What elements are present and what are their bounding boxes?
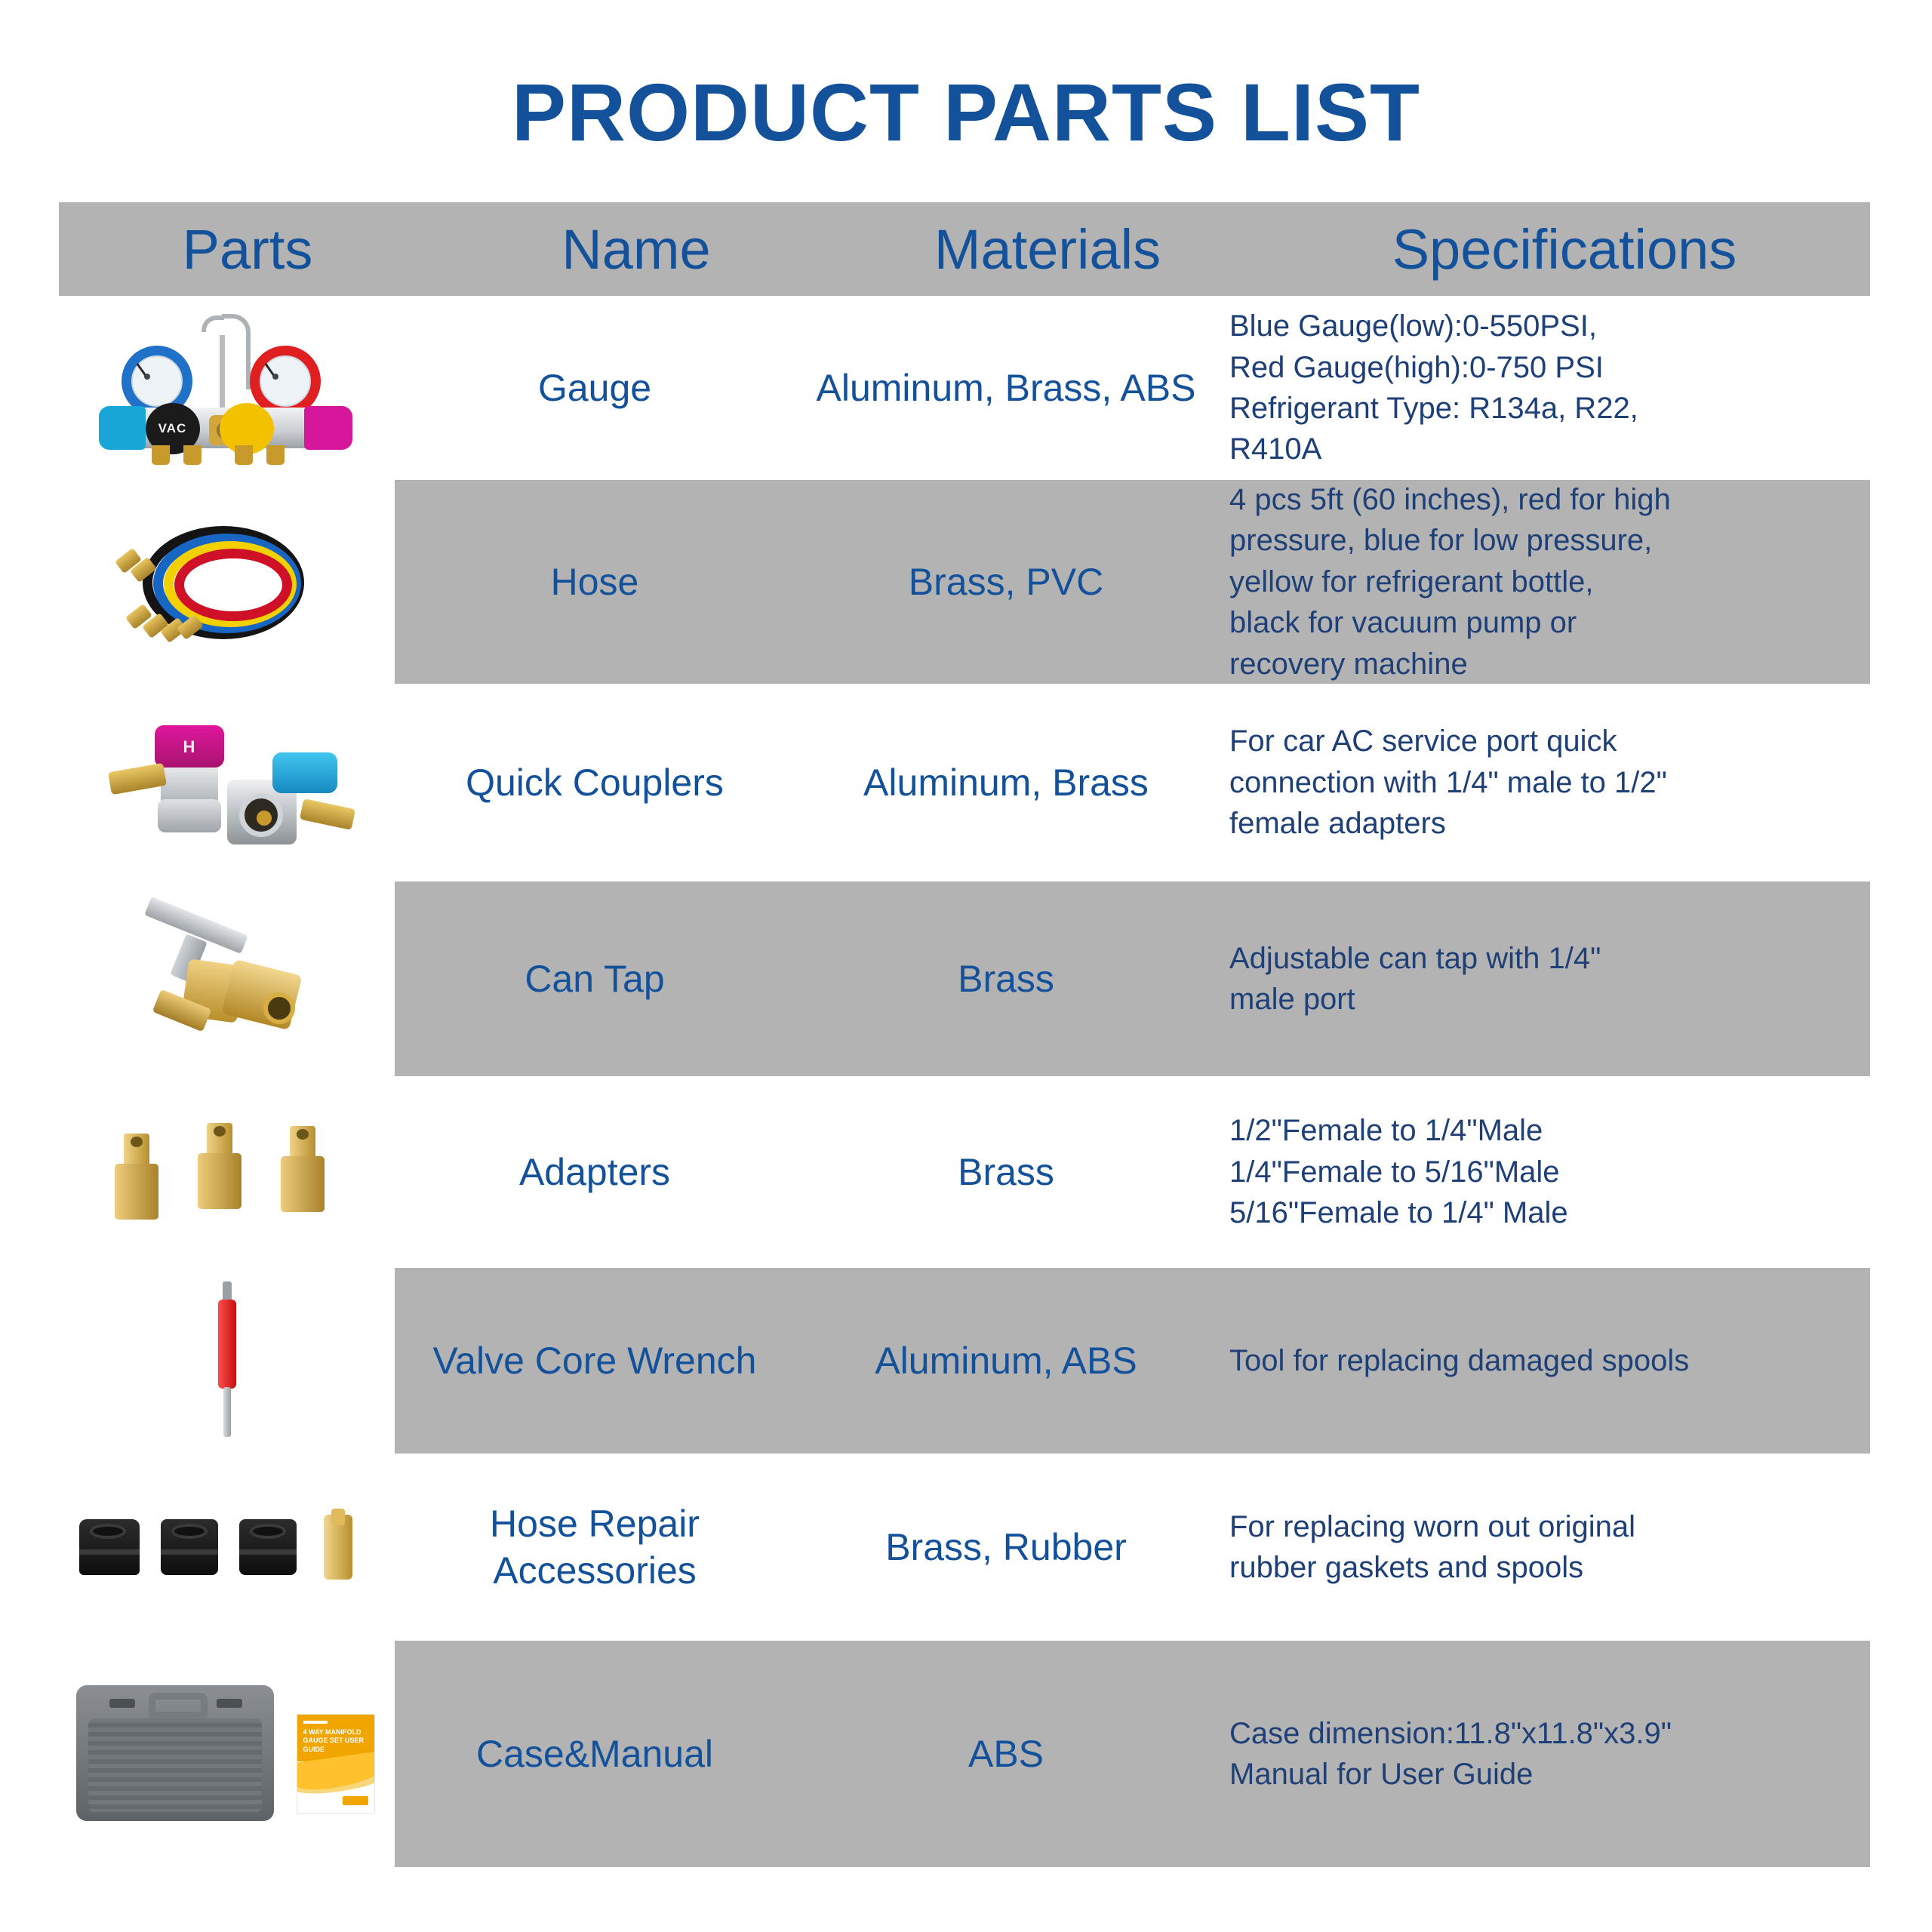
part-specifications: For replacing worn out original rubber g… <box>1217 1506 1881 1589</box>
part-name: Valve Core Wrench <box>395 1337 795 1385</box>
table-row: 4 WAY MANIFOLD GAUGE SET USER GUIDE Case… <box>0 1641 1932 1867</box>
spec-line: yellow for refrigerant bottle, <box>1229 561 1881 602</box>
spec-line: Refrigerant Type: R134a, R22, <box>1229 388 1881 429</box>
spec-line: pressure, blue for low pressure, <box>1229 520 1881 561</box>
quick-couplers-image: H <box>99 715 355 851</box>
spec-line: connection with 1/4" male to 1/2" <box>1229 762 1881 803</box>
part-image-cell <box>59 903 395 1054</box>
spec-line: For replacing worn out original <box>1229 1506 1881 1547</box>
table-row: Hose Brass, PVC 4 pcs 5ft (60 inches), r… <box>0 480 1932 684</box>
coupler-high-knob-label: H <box>155 737 224 757</box>
column-header-materials: Materials <box>836 217 1259 281</box>
part-specifications: Adjustable can tap with 1/4" male port <box>1217 938 1881 1020</box>
part-specifications: Blue Gauge(low):0-550PSI, Red Gauge(high… <box>1217 306 1881 470</box>
spec-line: Case dimension:11.8"x11.8"x3.9" <box>1229 1713 1881 1754</box>
spec-line: 5/16"Female to 1/4" Male <box>1229 1192 1881 1233</box>
part-name: Can Tap <box>395 955 795 1003</box>
part-materials: Brass, Rubber <box>795 1524 1217 1571</box>
spec-line: recovery machine <box>1229 644 1881 685</box>
user-manual-image: 4 WAY MANIFOLD GAUGE SET USER GUIDE <box>297 1714 375 1814</box>
part-name: Case&Manual <box>395 1730 795 1778</box>
column-header-name: Name <box>436 217 836 281</box>
table-row: Hose Repair Accessories Brass, Rubber Fo… <box>0 1454 1932 1641</box>
spec-line: black for vacuum pump or <box>1229 602 1881 643</box>
spec-line: Manual for User Guide <box>1229 1754 1881 1795</box>
table-row: H Quick Couplers Aluminum, Brass For car… <box>0 684 1932 881</box>
vac-knob-label: VAC <box>146 421 200 436</box>
table-row: Adapters Brass 1/2"Female to 1/4"Male 1/… <box>0 1076 1932 1268</box>
part-name: Adapters <box>395 1149 795 1196</box>
part-image-cell: 4 WAY MANIFOLD GAUGE SET USER GUIDE <box>59 1667 395 1841</box>
spec-line: female adapters <box>1229 803 1881 844</box>
spec-line: Red Gauge(high):0-750 PSI <box>1229 347 1881 388</box>
part-image-cell <box>59 1281 395 1440</box>
spec-line: 1/2"Female to 1/4"Male <box>1229 1110 1881 1151</box>
spec-line: For car AC service port quick <box>1229 721 1881 761</box>
part-materials: Brass <box>795 955 1217 1003</box>
spec-line: 1/4"Female to 5/16"Male <box>1229 1152 1881 1192</box>
spec-line: 4 pcs 5ft (60 inches), red for high <box>1229 479 1881 520</box>
page-title: PRODUCT PARTS LIST <box>0 68 1932 158</box>
hose-repair-accessories-image <box>76 1498 378 1596</box>
part-materials: Aluminum, Brass, ABS <box>795 365 1217 412</box>
part-name: Gauge <box>395 365 795 412</box>
brass-adapters-image <box>103 1108 352 1236</box>
part-image-cell: VAC <box>59 312 395 463</box>
part-materials: ABS <box>795 1730 1217 1778</box>
table-body: VAC Gauge Aluminum, Brass, ABS Blue Gaug… <box>0 296 1932 1867</box>
product-parts-list-page: PRODUCT PARTS LIST Parts Name Materials … <box>0 0 1932 1932</box>
table-header-row: Parts Name Materials Specifications <box>59 202 1870 296</box>
part-name: Hose <box>395 558 795 606</box>
part-image-cell <box>59 1108 395 1236</box>
part-materials: Aluminum, Brass <box>795 759 1217 807</box>
part-specifications: 1/2"Female to 1/4"Male 1/4"Female to 5/1… <box>1217 1110 1881 1233</box>
part-specifications: Case dimension:11.8"x11.8"x3.9" Manual f… <box>1217 1713 1881 1795</box>
table-row: VAC Gauge Aluminum, Brass, ABS Blue Gaug… <box>0 296 1932 480</box>
valve-core-wrench-image <box>182 1281 272 1440</box>
column-header-specifications: Specifications <box>1259 217 1870 281</box>
manual-cover-title: 4 WAY MANIFOLD GAUGE SET USER GUIDE <box>303 1728 370 1754</box>
part-materials: Aluminum, ABS <box>795 1337 1217 1385</box>
part-image-cell: H <box>59 715 395 851</box>
spec-line: Blue Gauge(low):0-550PSI, <box>1229 306 1881 346</box>
part-materials: Brass <box>795 1149 1217 1196</box>
part-name: Hose Repair Accessories <box>395 1500 795 1595</box>
charging-hoses-image <box>99 506 355 657</box>
part-image-cell <box>59 1498 395 1596</box>
part-specifications: Tool for replacing damaged spools <box>1217 1340 1881 1381</box>
case-and-manual-image: 4 WAY MANIFOLD GAUGE SET USER GUIDE <box>76 1667 378 1841</box>
spec-line: Tool for replacing damaged spools <box>1229 1340 1881 1381</box>
spec-line: rubber gaskets and spools <box>1229 1547 1881 1588</box>
part-image-cell <box>59 506 395 657</box>
part-specifications: 4 pcs 5ft (60 inches), red for high pres… <box>1217 479 1881 685</box>
part-specifications: For car AC service port quick connection… <box>1217 721 1881 844</box>
spec-line: Adjustable can tap with 1/4" <box>1229 938 1881 979</box>
spec-line: male port <box>1229 979 1881 1020</box>
table-row: Valve Core Wrench Aluminum, ABS Tool for… <box>0 1268 1932 1454</box>
part-name: Quick Couplers <box>395 759 795 807</box>
column-header-parts: Parts <box>59 217 436 281</box>
can-tap-image <box>114 903 340 1054</box>
part-materials: Brass, PVC <box>795 558 1217 606</box>
table-row: Can Tap Brass Adjustable can tap with 1/… <box>0 881 1932 1076</box>
spec-line: R410A <box>1229 429 1881 469</box>
manifold-gauge-set-image: VAC <box>99 312 355 463</box>
